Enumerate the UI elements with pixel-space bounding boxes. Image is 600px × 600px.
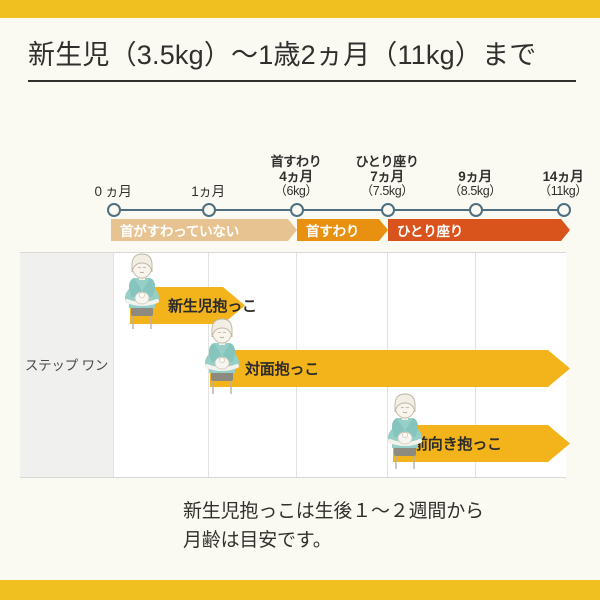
task-row-1: 新生児抱っこ <box>0 287 600 324</box>
timeline-label-5: 14ヵ月（11kg） <box>508 169 600 199</box>
phase-bar-label-2: 首すわり <box>306 220 359 240</box>
footnote-line-1: 新生児抱っこは生後１〜２週間から <box>183 497 583 526</box>
bottom-accent-bar <box>0 580 600 600</box>
timeline-weight-5: （11kg） <box>508 184 600 199</box>
development-phase-bars: 首がすわっていない首すわりひとり座り <box>0 219 600 241</box>
top-accent-bar <box>0 0 600 18</box>
page-title-block: 新生児（3.5kg）〜1歳2ヵ月（11kg）まで <box>28 38 576 72</box>
timeline-stage-name-3: ひとり座り <box>332 154 442 169</box>
infographic-page: 新生児（3.5kg）〜1歳2ヵ月（11kg）まで 0 ヵ月1ヵ月首すわり4ヵ月（… <box>0 0 600 600</box>
timeline-label-0: 0 ヵ月 <box>58 184 168 199</box>
title-underline <box>28 80 576 82</box>
timeline-dot-5 <box>557 203 571 217</box>
timeline-dot-2 <box>290 203 304 217</box>
task-label-3: 前向き抱っこ <box>413 425 502 462</box>
task-label-1: 新生児抱っこ <box>168 287 257 324</box>
footnote-line-2: 月齢は目安です。 <box>183 526 583 555</box>
timeline-dot-3 <box>381 203 395 217</box>
task-row-2: 対面抱っこ <box>0 350 600 387</box>
phase-bar-label-3: ひとり座り <box>397 220 463 240</box>
task-row-3: 前向き抱っこ <box>0 425 600 462</box>
age-timeline: 0 ヵ月1ヵ月首すわり4ヵ月（6kg）ひとり座り7ヵ月（7.5kg）9ヵ月（8.… <box>0 140 600 215</box>
timeline-axis-line <box>113 209 563 211</box>
phase-bar-3: ひとり座り <box>388 219 570 241</box>
timeline-age-0: 0 ヵ月 <box>58 184 168 199</box>
timeline-dot-0 <box>107 203 121 217</box>
phase-bar-1: 首がすわっていない <box>111 219 297 241</box>
timeline-age-5: 14ヵ月 <box>508 169 600 184</box>
phase-bar-label-1: 首がすわっていない <box>120 220 239 240</box>
footnote: 新生児抱っこは生後１〜２週間から 月齢は目安です。 <box>183 497 583 555</box>
phase-bar-2: 首すわり <box>297 219 388 241</box>
timeline-dot-4 <box>469 203 483 217</box>
timeline-dot-1 <box>202 203 216 217</box>
task-label-2: 対面抱っこ <box>245 350 319 387</box>
page-title: 新生児（3.5kg）〜1歳2ヵ月（11kg）まで <box>28 38 576 72</box>
